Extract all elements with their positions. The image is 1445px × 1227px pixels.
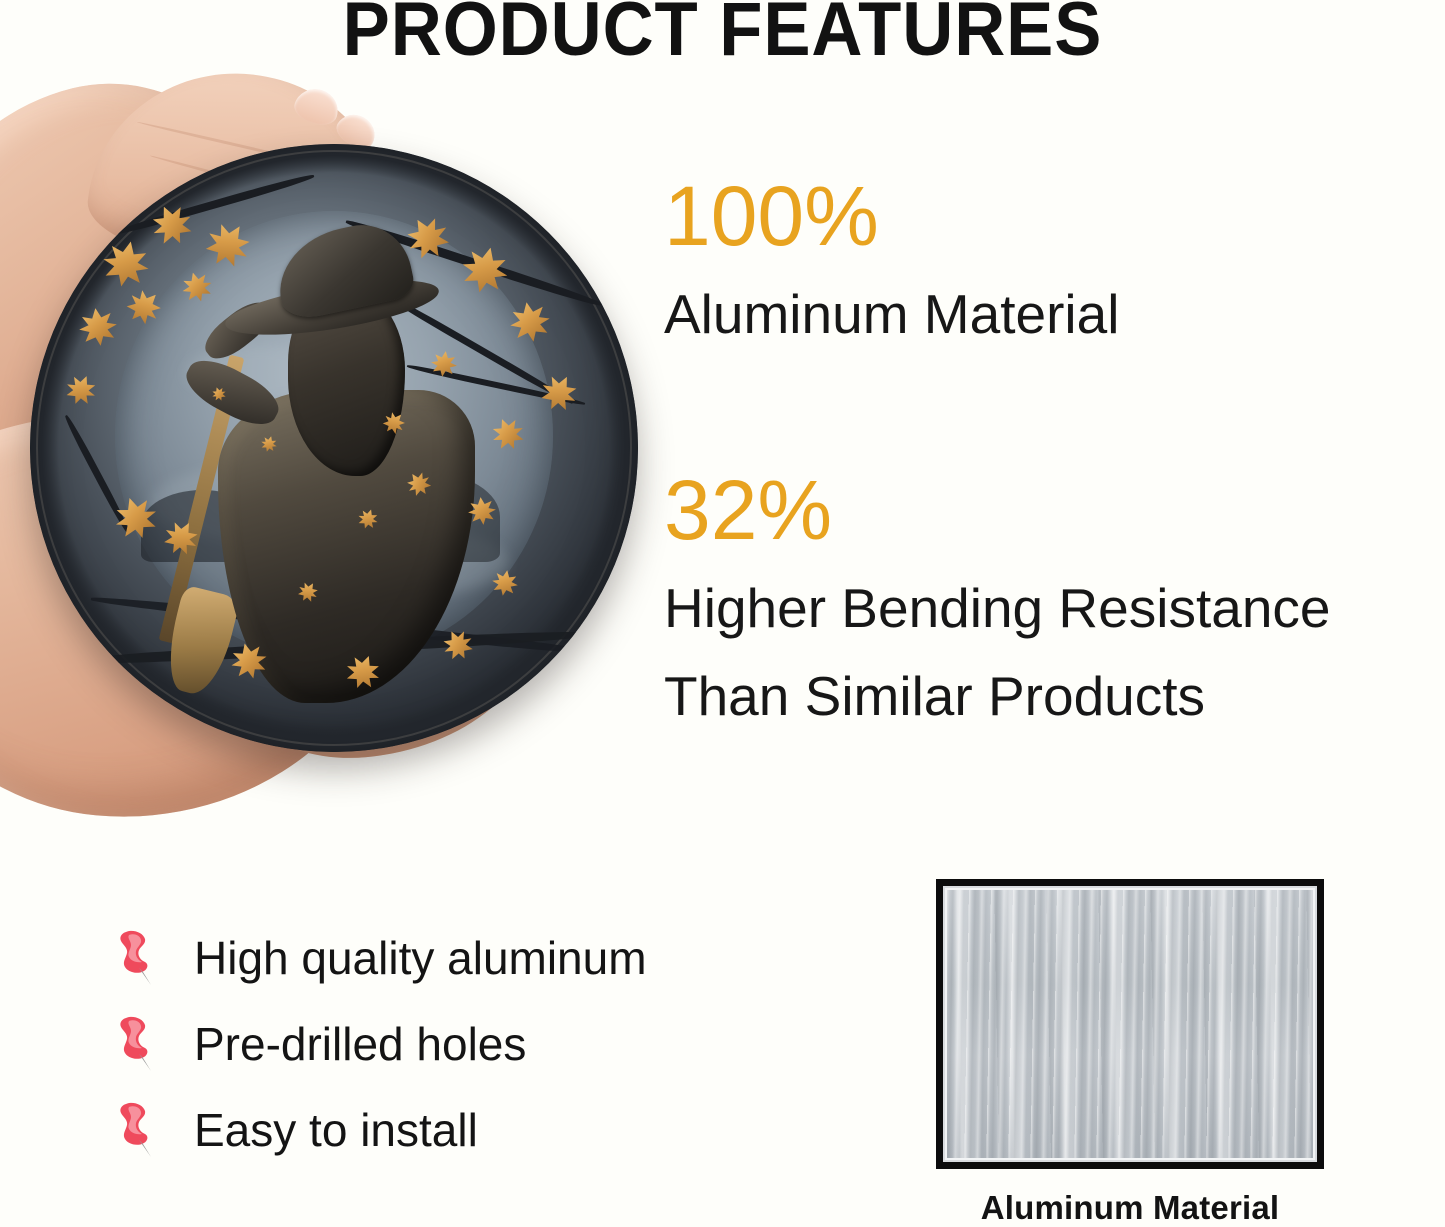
page-title: PRODUCT FEATURES (51, 0, 1395, 73)
stat-aluminum-material: 100% Aluminum Material (664, 174, 1119, 346)
list-item: Easy to install (112, 1087, 832, 1173)
aluminum-swatch-block: Aluminum Material (936, 879, 1324, 1227)
feature-bullet-list: High quality aluminum Pre-drilled holes (112, 915, 832, 1173)
list-item: High quality aluminum (112, 915, 832, 1001)
bullet-label: Easy to install (194, 1107, 478, 1153)
witch-figure (200, 229, 492, 703)
list-item: Pre-drilled holes (112, 1001, 832, 1087)
stat-label-line-2: Than Similar Products (664, 666, 1331, 728)
stat-label: Aluminum Material (664, 284, 1119, 346)
stat-label-line-1: Higher Bending Resistance (664, 578, 1331, 640)
aluminum-swatch-frame (936, 879, 1324, 1169)
brushed-aluminum-texture (945, 888, 1315, 1160)
pushpin-icon (112, 1099, 156, 1161)
round-wall-plaque (30, 144, 638, 752)
swatch-caption: Aluminum Material (936, 1189, 1324, 1227)
stat-value: 100% (664, 174, 1119, 258)
product-photo (0, 96, 660, 786)
bullet-label: High quality aluminum (194, 935, 647, 981)
fingernail (291, 84, 343, 130)
product-features-infographic: PRODUCT FEATURES (0, 0, 1445, 1227)
bullet-label: Pre-drilled holes (194, 1021, 526, 1067)
stat-bending-resistance: 32% Higher Bending Resistance Than Simil… (664, 468, 1331, 727)
pushpin-icon (112, 927, 156, 989)
stat-value: 32% (664, 468, 1331, 552)
pushpin-icon (112, 1013, 156, 1075)
